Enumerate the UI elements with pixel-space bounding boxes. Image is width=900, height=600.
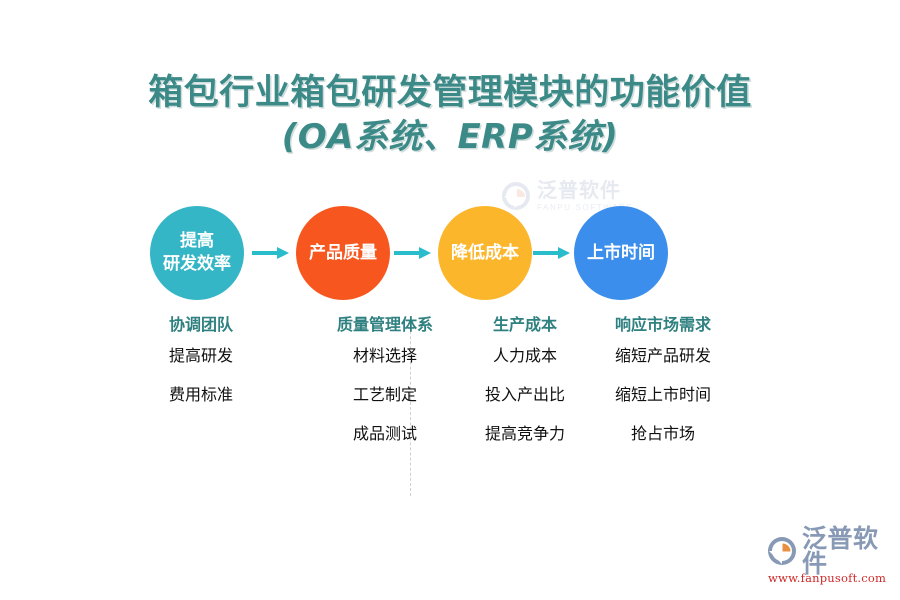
column-item: 提高研发 <box>126 336 276 375</box>
infographic-canvas: 箱包行业箱包研发管理模块的功能价值 (OA系统、ERP系统) 泛普软件 FANP… <box>0 0 900 600</box>
flow-node-product-quality[interactable]: 产品质量 <box>296 206 390 300</box>
brand-logo-top: 泛普软件 <box>766 534 894 568</box>
column-item: 缩短上市时间 <box>588 375 738 414</box>
detail-column-coordinate-team: 协调团队 提高研发 费用标准 <box>126 314 276 453</box>
brand-logo-url: www.fanpusoft.com <box>768 571 886 585</box>
column-header: 生产成本 <box>450 314 600 336</box>
detail-column-market-demand-response: 响应市场需求 缩短产品研发 缩短上市时间 抢占市场 <box>588 314 738 453</box>
detail-column-production-cost: 生产成本 人力成本 投入产出比 提高竞争力 <box>450 314 600 453</box>
arrow-right-icon <box>394 246 432 260</box>
column-item: 提高竞争力 <box>450 414 600 453</box>
flow-node-time-to-market[interactable]: 上市时间 <box>574 206 668 300</box>
flow-node-reduce-cost[interactable]: 降低成本 <box>438 206 532 300</box>
column-item: 费用标准 <box>126 375 276 414</box>
detail-columns: 协调团队 提高研发 费用标准 质量管理体系 材料选择 工艺制定 成品测试 生产成… <box>120 314 740 494</box>
column-header: 协调团队 <box>126 314 276 336</box>
page-title-line-1: 箱包行业箱包研发管理模块的功能价值 <box>0 72 900 113</box>
flow-node-label-line: 研发效率 <box>163 253 231 276</box>
column-item: 投入产出比 <box>450 375 600 414</box>
flow-node-label-line: 提高 <box>180 230 214 253</box>
column-item: 工艺制定 <box>310 375 460 414</box>
fanpu-logo-icon <box>766 535 798 567</box>
column-item: 人力成本 <box>450 336 600 375</box>
column-header: 响应市场需求 <box>588 314 738 336</box>
column-item: 材料选择 <box>310 336 460 375</box>
brand-logo: 泛普软件 www.fanpusoft.com <box>766 534 894 588</box>
arrow-right-icon <box>252 246 290 260</box>
column-item: 缩短产品研发 <box>588 336 738 375</box>
column-item: 抢占市场 <box>588 414 738 453</box>
page-title-line-2: (OA系统、ERP系统) <box>0 117 900 157</box>
center-watermark-cn: 泛普软件 <box>537 181 633 201</box>
process-flow: 提高 研发效率 产品质量 降低成本 上市时间 <box>150 206 680 302</box>
detail-column-quality-management-system: 质量管理体系 材料选择 工艺制定 成品测试 <box>310 314 460 453</box>
column-item: 成品测试 <box>310 414 460 453</box>
brand-logo-name: 泛普软件 <box>802 526 894 576</box>
flow-node-label-line: 产品质量 <box>309 242 377 265</box>
flow-node-label-line: 上市时间 <box>587 242 655 265</box>
page-title: 箱包行业箱包研发管理模块的功能价值 (OA系统、ERP系统) <box>0 72 900 157</box>
column-header: 质量管理体系 <box>310 314 460 336</box>
flow-node-label-line: 降低成本 <box>451 242 519 265</box>
flow-node-improve-rd-efficiency[interactable]: 提高 研发效率 <box>150 206 244 300</box>
arrow-right-icon <box>533 246 571 260</box>
